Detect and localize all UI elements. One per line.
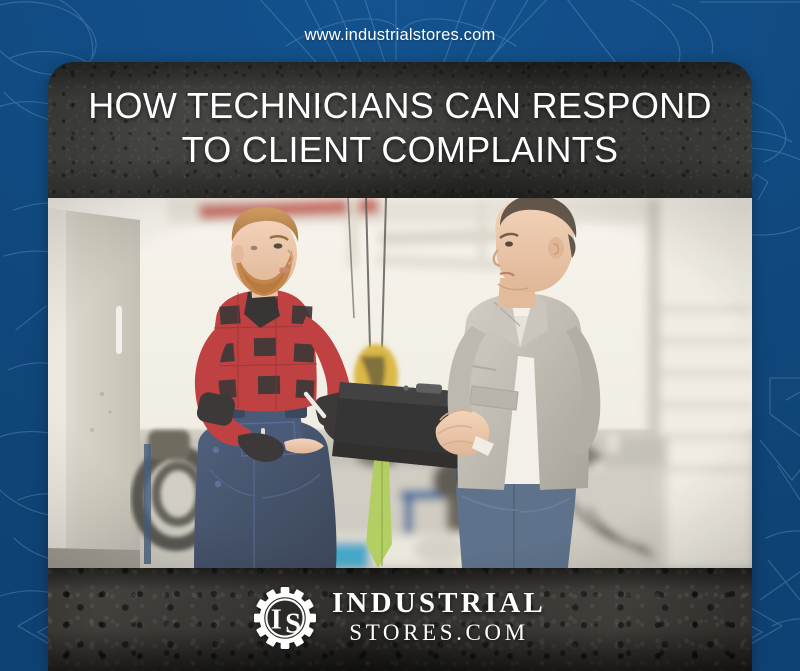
headline-line-2: TO CLIENT COMPLAINTS bbox=[182, 128, 619, 172]
card-header-band: HOW TECHNICIANS CAN RESPOND TO CLIENT CO… bbox=[48, 62, 752, 198]
gear-logo-icon: I S bbox=[254, 587, 316, 649]
headline-line-1: HOW TECHNICIANS CAN RESPOND bbox=[88, 84, 712, 128]
page-title: HOW TECHNICIANS CAN RESPOND TO CLIENT CO… bbox=[48, 62, 752, 198]
content-card: HOW TECHNICIANS CAN RESPOND TO CLIENT CO… bbox=[48, 62, 752, 671]
article-photo bbox=[48, 198, 752, 568]
brand-name-top: INDUSTRIAL bbox=[332, 589, 546, 618]
svg-text:I: I bbox=[271, 604, 282, 635]
site-url[interactable]: www.industrialstores.com bbox=[0, 26, 800, 45]
social-media-poster: www.industrialstores.com HOW TECHNICIANS… bbox=[0, 0, 800, 671]
brand-wordmark: INDUSTRIAL STORES.COM bbox=[332, 589, 546, 645]
svg-text:S: S bbox=[285, 608, 301, 639]
card-footer-band: I S INDUSTRIAL STORES.COM bbox=[48, 568, 752, 671]
brand-name-bottom: STORES.COM bbox=[349, 621, 528, 645]
brand-lockup[interactable]: I S INDUSTRIAL STORES.COM bbox=[48, 568, 752, 671]
